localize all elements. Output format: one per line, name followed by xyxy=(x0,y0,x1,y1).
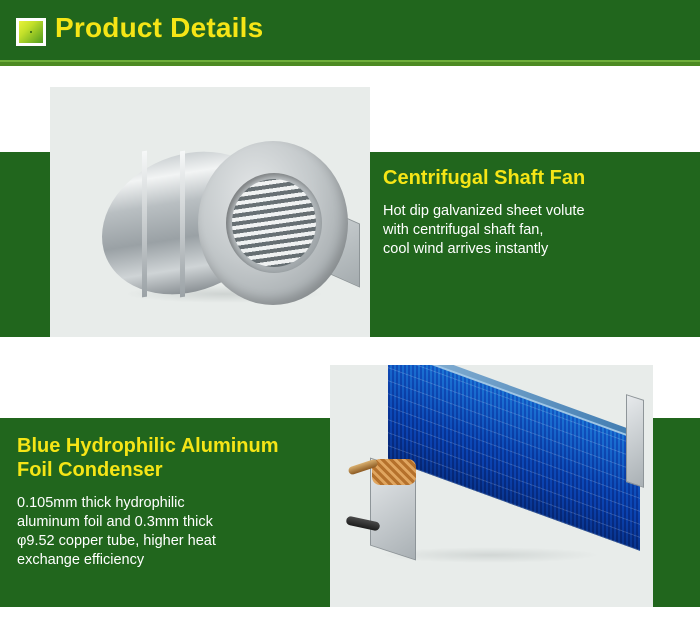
product-details-page: Product Details Centrifugal Shaft Fan Ho… xyxy=(0,0,700,617)
blower-seam-band-2 xyxy=(180,151,185,298)
section-1-body-line-1: Hot dip galvanized sheet volute xyxy=(383,202,663,221)
condenser-copper-tubing xyxy=(372,459,416,485)
section-2-body-line-1: 0.105mm thick hydrophilic xyxy=(17,494,317,513)
page-title: Product Details xyxy=(55,12,263,44)
section-2-text: Blue Hydrophilic Aluminum Foil Condenser… xyxy=(17,434,317,570)
condenser-image-panel xyxy=(330,365,653,607)
section-1-body-line-2: with centrifugal shaft fan, xyxy=(383,221,663,240)
centrifugal-fan-image-panel xyxy=(50,87,370,337)
section-1-body: Hot dip galvanized sheet volute with cen… xyxy=(383,202,663,259)
section-2-body-line-4: exchange efficiency xyxy=(17,551,317,570)
blower-fan-blades xyxy=(232,179,316,267)
blower-seam-band-1 xyxy=(142,151,147,298)
blower-inlet-opening xyxy=(226,173,322,273)
section-2-heading-line-1: Blue Hydrophilic Aluminum xyxy=(17,435,279,457)
section-2-body-line-2: aluminum foil and 0.3mm thick xyxy=(17,513,317,532)
square-gradient-icon xyxy=(16,18,46,46)
section-1-text: Centrifugal Shaft Fan Hot dip galvanized… xyxy=(383,166,663,259)
centrifugal-blower-photo xyxy=(102,135,334,311)
section-2-heading: Blue Hydrophilic Aluminum Foil Condenser xyxy=(17,434,317,482)
section-2-body-line-3: φ9.52 copper tube, higher heat xyxy=(17,532,317,551)
condenser-right-end-plate xyxy=(626,394,644,488)
header-stripe-highlight xyxy=(0,60,700,62)
condenser-blue-fin-core xyxy=(388,365,640,551)
section-1-body-line-3: cool wind arrives instantly xyxy=(383,240,663,259)
section-1-heading: Centrifugal Shaft Fan xyxy=(383,166,663,190)
section-2-heading-line-2: Foil Condenser xyxy=(17,459,163,481)
blue-fin-condenser-coil-photo xyxy=(340,387,640,577)
section-2-body: 0.105mm thick hydrophilic aluminum foil … xyxy=(17,494,317,570)
